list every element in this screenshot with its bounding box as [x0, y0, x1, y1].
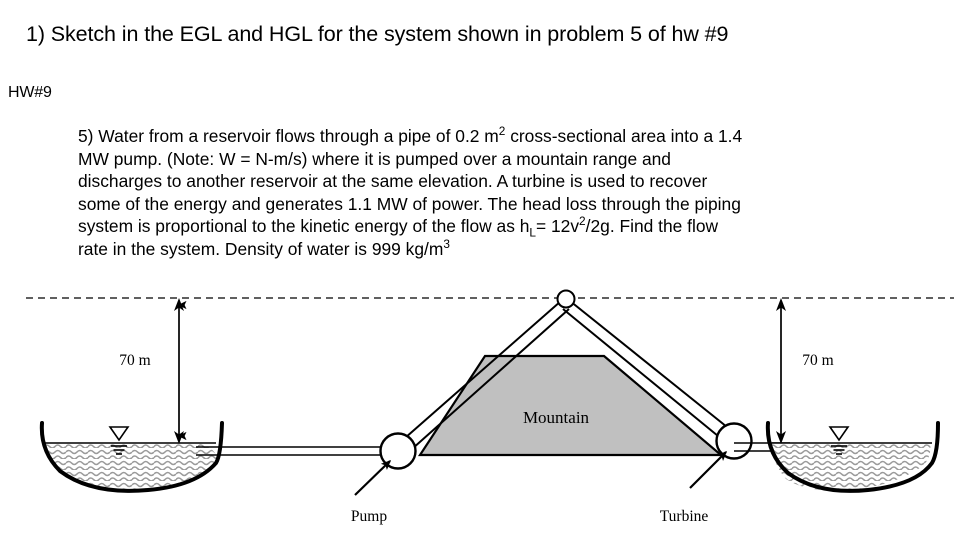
- right-elevation-label: 70 m: [802, 352, 833, 369]
- density-superscript: 3: [443, 237, 450, 251]
- suction-pipe: [196, 447, 400, 455]
- turbine-symbol[interactable]: [717, 424, 752, 459]
- problem-line-5-b: = 12v: [536, 216, 579, 236]
- problem-line-6-a: rate in the system. Density of water is …: [78, 239, 443, 259]
- mountain-label: Mountain: [523, 408, 590, 427]
- problem-line-5-c: /2g. Find the flow: [586, 216, 718, 236]
- problem-line-4: some of the energy and generates 1.1 MW …: [78, 193, 968, 216]
- worksheet-page: 1) Sketch in the EGL and HGL for the sys…: [0, 0, 980, 546]
- problem-statement: 5) Water from a reservoir flows through …: [78, 125, 968, 260]
- problem-line-6: rate in the system. Density of water is …: [78, 238, 968, 261]
- pump-label: Pump: [351, 508, 387, 525]
- pump-leader-line: [355, 461, 390, 495]
- problem-line-2: MW pump. (Note: W = N-m/s) where it is p…: [78, 148, 968, 171]
- turbine-label: Turbine: [660, 508, 709, 525]
- pump-symbol[interactable]: [381, 434, 416, 469]
- left-reservoir-water: [42, 443, 218, 491]
- problem-line-3: discharges to another reservoir at the s…: [78, 170, 968, 193]
- velocity-superscript: 2: [579, 214, 586, 228]
- problem-line-5: system is proportional to the kinetic en…: [78, 215, 968, 238]
- problem-line-5-a: system is proportional to the kinetic en…: [78, 216, 529, 236]
- system-diagram: 70 m Mountain: [0, 283, 980, 546]
- problem-line-1: 5) Water from a reservoir flows through …: [78, 125, 968, 148]
- mountain-shape: [420, 356, 721, 455]
- turbine-leader-line: [690, 452, 726, 488]
- right-reservoir-water: [772, 443, 930, 491]
- summit-elbow: [558, 291, 575, 308]
- homework-source-label: HW#9: [8, 84, 52, 102]
- right-elevation-dimension: [776, 298, 786, 444]
- left-elevation-dimension: [174, 298, 184, 444]
- problem-line-1-b: cross-sectional area into a 1.4: [505, 126, 742, 146]
- page-title: 1) Sketch in the EGL and HGL for the sys…: [26, 22, 728, 47]
- left-elevation-label: 70 m: [119, 352, 150, 369]
- diagram-canvas: 70 m Mountain: [0, 283, 980, 546]
- problem-line-1-a: 5) Water from a reservoir flows through …: [78, 126, 499, 146]
